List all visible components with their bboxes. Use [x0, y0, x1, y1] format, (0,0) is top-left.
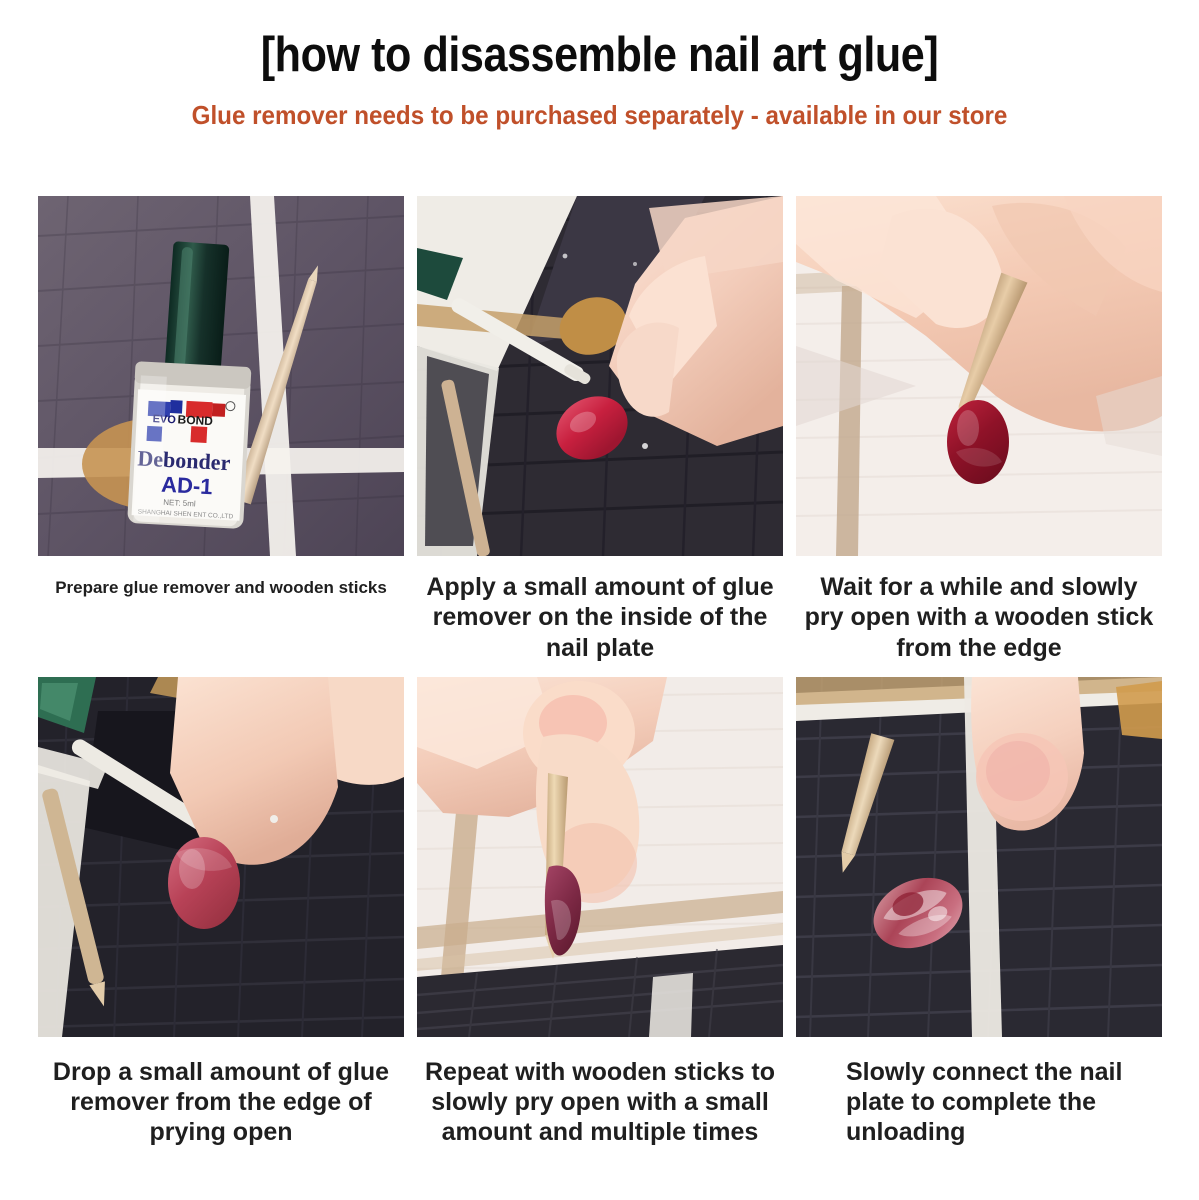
page-title: [how to disassemble nail art glue] [72, 30, 1127, 81]
step-caption-1: Prepare glue remover and wooden sticks [38, 578, 404, 599]
step-card-6: Slowly connect the nail plate to complet… [796, 677, 1162, 1148]
step-card-2: Apply a small amount of glue remover on … [417, 196, 783, 663]
steps-grid: EVO BOND Debonder AD-1 NET: 5ml SHANGHAI… [38, 196, 1162, 1148]
page-header: [how to disassemble nail art glue] Glue … [0, 0, 1199, 130]
step-caption-2: Apply a small amount of glue remover on … [417, 572, 783, 663]
page-subtitle: Glue remover needs to be purchased separ… [42, 101, 1157, 130]
step-caption-5: Repeat with wooden sticks to slowly pry … [417, 1057, 783, 1148]
step-card-3: Wait for a while and slowly pry open wit… [796, 196, 1162, 663]
svg-text:AD-1: AD-1 [161, 472, 214, 500]
photo-step-1-glue-remover-and-sticks: EVO BOND Debonder AD-1 NET: 5ml SHANGHAI… [38, 196, 404, 556]
step-caption-4: Drop a small amount of glue remover from… [38, 1057, 404, 1148]
photo-step-2-apply-glue-remover [417, 196, 783, 556]
svg-text:BOND: BOND [177, 412, 213, 428]
step-card-1: EVO BOND Debonder AD-1 NET: 5ml SHANGHAI… [38, 196, 404, 663]
step-caption-6: Slowly connect the nail plate to complet… [796, 1057, 1162, 1148]
step-card-5: Repeat with wooden sticks to slowly pry … [417, 677, 783, 1148]
photo-step-5-repeat-prying [417, 677, 783, 1037]
step-card-4: Drop a small amount of glue remover from… [38, 677, 404, 1148]
step-caption-3: Wait for a while and slowly pry open wit… [796, 572, 1162, 663]
svg-text:NET: 5ml: NET: 5ml [163, 498, 196, 509]
photo-step-4-drop-remover-at-edge [38, 677, 404, 1037]
photo-step-6-nail-plate-removed [796, 677, 1162, 1037]
photo-step-3-pry-open-with-stick [796, 196, 1162, 556]
